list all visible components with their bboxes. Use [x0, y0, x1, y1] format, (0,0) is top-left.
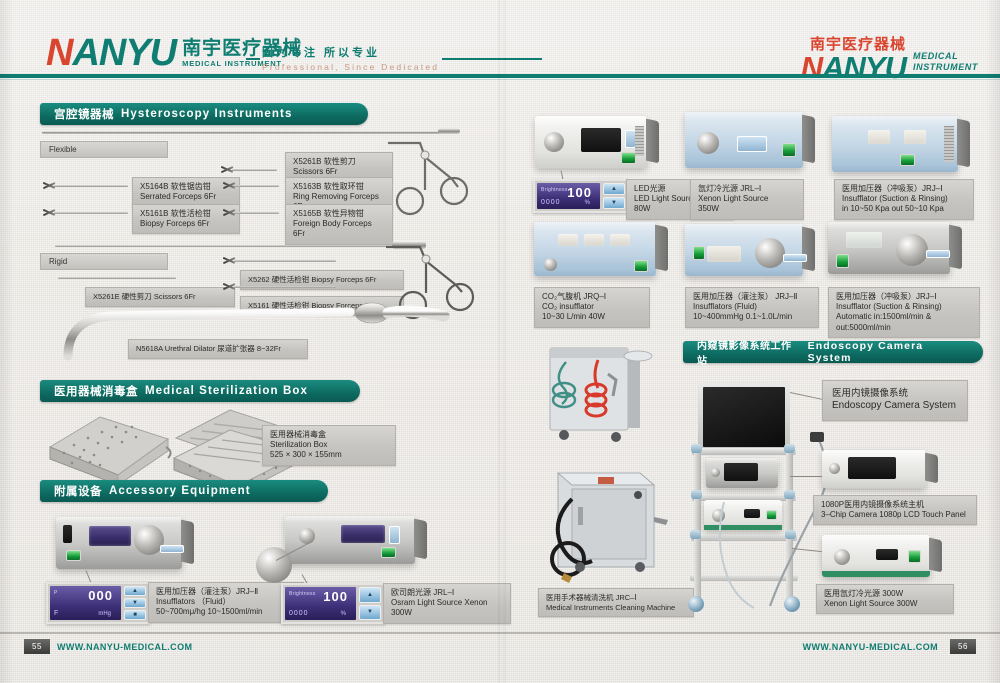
caption-sterilization-box: 医用器械消毒盒 Sterilization Box 525 × 300 × 15… — [262, 425, 396, 466]
device-left-panel — [63, 525, 72, 543]
device-side-panel-10 — [929, 538, 942, 573]
device-xenon-light-source — [685, 112, 803, 168]
closeup-osram-display: Brightness 100 0000 % ▲▼ — [281, 583, 385, 624]
trolley-caster-right — [784, 596, 800, 612]
device-led-light-source — [535, 116, 647, 168]
closeup-keypad-2[interactable]: ▲▼ — [359, 587, 381, 620]
device-side-panel-8 — [949, 225, 962, 270]
device-power-button-5 — [900, 154, 915, 166]
closeup-lcd-2: Brightness 100 0000 % — [285, 587, 356, 620]
device-power-button-6 — [634, 260, 648, 272]
header-rule-thin — [0, 79, 1000, 80]
device-side-panel-2 — [414, 519, 427, 560]
device-display-2 — [341, 525, 385, 543]
caption-insufflator-fluid-2: 医用加压器（灌注泵） JRJ–Ⅱ Insufflators (Fluid) 10… — [685, 287, 819, 328]
rigid-biopsy-shaft-2 — [234, 286, 336, 288]
slogan-english: Professional, Since Dedicated — [262, 62, 492, 72]
trolley-joint-6 — [785, 530, 796, 539]
trolley-post-right — [786, 448, 793, 600]
device-pump-rotor-2 — [755, 238, 785, 268]
trolley-light-unit — [704, 500, 782, 530]
trolley-caster-left — [688, 596, 704, 612]
device-power-button-2 — [381, 547, 396, 558]
trolley-light-port — [712, 509, 725, 522]
caption-xenon-300w: 医用氙灯冷光源 300W Xenon Light Source 300W — [816, 584, 954, 614]
caption-1080p-camera: 1080P医用内镜摄像系统主机 3–Chip Camera 1080p LCD … — [813, 495, 977, 525]
device-side-panel-4 — [802, 115, 815, 164]
caption-insufflator-suction-2: 医用加压器（冲吸泵）JRJ–Ⅰ Insufflator (Suction & R… — [828, 287, 980, 338]
device-display-8 — [846, 232, 882, 248]
ring-forceps-shaft — [234, 185, 279, 187]
device-light-port-4 — [834, 549, 850, 565]
device-side-panel-9 — [925, 453, 938, 484]
biopsy-forceps-shaft — [54, 212, 128, 214]
device-display-3 — [581, 128, 621, 152]
device-side-panel-5 — [957, 119, 970, 168]
footer-url-right: WWW.NANYU-MEDICAL.COM — [803, 642, 938, 652]
flexible-scissors-shaft — [232, 169, 277, 171]
trolley-joint-1 — [691, 444, 702, 453]
trolley-shelf-4 — [690, 574, 798, 581]
device-power-button-10 — [908, 550, 921, 563]
sterilization-box-closed — [44, 405, 174, 490]
device-1080p-camera — [822, 450, 926, 488]
leader-line-1080p — [790, 476, 822, 477]
device-insufflator-suction-2 — [828, 222, 950, 274]
device-body-5 — [832, 116, 958, 172]
section-title-cn: 宫腔镜器械 — [54, 106, 114, 122]
device-vents-5 — [944, 126, 954, 162]
trolley-post-left — [694, 448, 701, 600]
trolley-shelf-3 — [691, 534, 797, 541]
page-edge-right — [986, 0, 1000, 683]
device-tube-2 — [783, 254, 807, 262]
footer-rule — [0, 632, 1000, 634]
caption-co2-insufflator: CO₂气腹机 JRQ–Ⅰ CO₂ insufflator 10~30 L/min… — [534, 287, 650, 328]
page-edge-left — [0, 0, 14, 683]
device-camera-knob — [829, 463, 840, 474]
device-green-stripe — [822, 571, 930, 577]
trolley-light-display — [744, 509, 760, 518]
device-touch-panel — [848, 457, 896, 479]
cleaning-machine-lower — [528, 455, 678, 585]
device-co2-insufflator — [534, 222, 656, 276]
section-title-cn-3: 附属设备 — [54, 483, 102, 499]
closeup-keypad[interactable]: ▲▼■ — [124, 586, 146, 620]
section-title-en-2: Medical Sterilization Box — [145, 385, 308, 397]
serrated-forceps-shaft — [54, 185, 128, 187]
device-osram-light-source — [285, 516, 415, 564]
section-title-cn-2: 医用器械消毒盒 — [54, 383, 138, 399]
device-side-panel-6 — [655, 225, 668, 272]
rigid-biopsy-shaft-1 — [234, 260, 336, 262]
device-display-5b — [904, 130, 926, 144]
device-insufflator-fluid — [56, 517, 182, 569]
device-display-6a — [558, 234, 578, 246]
device-side-panel-7 — [802, 227, 815, 272]
device-side-panel-3 — [646, 119, 659, 164]
device-light-port-2 — [544, 132, 564, 152]
device-control-pad-4 — [737, 136, 767, 152]
leader-line-xenon-300w — [792, 548, 822, 552]
caption-osram-light-source: 欧司朗光源 JRL–Ⅰ Osram Light Source Xenon 300… — [383, 583, 511, 624]
cleaning-machine-upper — [530, 338, 660, 453]
caption-insufflator-suction-1: 医用加压器（冲吸泵）JRJ–Ⅰ Insufflator (Suction & R… — [834, 179, 974, 220]
hysteroscope-handle — [438, 128, 460, 134]
light-guide-coupler — [256, 547, 292, 583]
slogan: 因为专注 所以专业 Professional, Since Dedicated — [262, 44, 492, 72]
foreign-body-forceps-shaft — [234, 212, 279, 214]
logo-wordmark: NANYU — [46, 36, 176, 70]
section-header-camera: 内窥镜影像系统工作站 Endoscopy Camera System — [683, 341, 983, 363]
device-power-button-8 — [836, 254, 849, 268]
caption-cleaning-machine: 医用手术器械清洗机 JRC–Ⅰ Medical Instruments Clea… — [538, 588, 694, 617]
device-gas-port — [544, 258, 557, 271]
device-light-port-3 — [697, 132, 719, 154]
device-power-button — [66, 550, 81, 561]
flexible-hysteroscope-shaft — [42, 131, 442, 134]
trolley-camera-unit — [706, 458, 778, 488]
device-display-5a — [868, 130, 890, 144]
section-title-en-4: Endoscopy Camera System — [808, 340, 969, 364]
device-xenon-300w — [822, 535, 930, 577]
trolley-camera-screen — [724, 463, 758, 481]
device-insufflator-fluid-2 — [685, 224, 803, 276]
group-label-flexible: Flexible — [40, 141, 168, 158]
section-title-cn-4: 内窥镜影像系统工作站 — [697, 337, 801, 367]
device-pump-rotor-3 — [896, 234, 928, 266]
device-display-7 — [707, 246, 741, 262]
closeup-lcd: P 000 F mHg — [50, 586, 121, 620]
closeup-lcd-3: Brightness 100 0000 % — [537, 183, 600, 209]
footer-url-left: WWW.NANYU-MEDICAL.COM — [57, 642, 192, 652]
closeup-led-display: Brightness 100 0000 % ▲▼ — [533, 179, 629, 213]
trolley-monitor — [698, 382, 790, 452]
closeup-keypad-3[interactable]: ▲▼ — [603, 183, 625, 209]
rigid-scissors-shaft — [58, 277, 176, 279]
section-header-sterilization: 医用器械消毒盒 Medical Sterilization Box — [40, 380, 360, 402]
device-display-6c — [610, 234, 630, 246]
caption-x5165b: X5165B 软性异物钳 Foreign Body Forceps 6Fr — [285, 204, 393, 245]
device-power-button-3 — [621, 152, 636, 164]
trolley-joint-2 — [784, 444, 795, 453]
section-header-hysteroscopy: 宫腔镜器械 Hysteroscopy Instruments — [40, 103, 368, 125]
caption-n5618a: N5618A Urethral Dilator 尿道扩张器 8~32Fr — [128, 339, 308, 359]
leader-line-camera-system — [790, 392, 823, 400]
logo-right-medical: MEDICAL — [913, 51, 978, 62]
trolley-light-power — [766, 510, 777, 520]
trolley-joint-4 — [784, 490, 795, 499]
slogan-rule-right — [442, 58, 542, 60]
caption-endoscopy-camera-system: 医用内镜摄像系统 Endoscopy Camera System — [822, 380, 968, 421]
trolley-camera-knob — [711, 468, 720, 477]
device-display-6b — [584, 234, 604, 246]
monitor-screen — [703, 387, 785, 447]
page-number-right: 56 — [950, 639, 976, 654]
catalog-page: NANYU 南宇医疗器械 MEDICAL INSTRUMENT 因为专注 所以专… — [0, 0, 1000, 683]
section-header-accessory: 附属设备 Accessory Equipment — [40, 480, 328, 502]
logo-right-instrument: INSTRUMENT — [913, 62, 978, 73]
device-insufflator-suction-1 — [832, 116, 958, 172]
trolley-joint-3 — [691, 490, 702, 499]
device-power-button-4 — [782, 143, 796, 157]
trolley-light-stripe — [704, 525, 782, 530]
device-display — [89, 526, 131, 546]
section-title-en: Hysteroscopy Instruments — [121, 108, 292, 120]
device-keypad-2 — [389, 526, 400, 544]
header-rule — [0, 74, 1000, 78]
closeup-insufflator-display: P 000 F mHg ▲▼■ — [46, 582, 150, 624]
caption-xenon-light-source: 氙灯冷光源 JRL–Ⅰ Xenon Light Source 350W — [690, 179, 804, 220]
page-number-left: 55 — [24, 639, 50, 654]
section-title-en-3: Accessory Equipment — [109, 485, 251, 497]
trolley-joint-5 — [690, 530, 701, 539]
device-power-button-7 — [693, 246, 705, 260]
page-gutter — [498, 0, 506, 683]
rigid-hysteroscope-shaft — [55, 245, 395, 247]
device-tube-3 — [926, 250, 950, 258]
slogan-rule-left — [246, 58, 260, 60]
device-side-panel — [181, 520, 194, 565]
device-tube-connector — [160, 545, 184, 553]
device-vents-3 — [635, 126, 644, 156]
group-label-rigid: Rigid — [40, 253, 168, 270]
device-display-10 — [876, 549, 898, 560]
trolley-shelf-top — [692, 448, 796, 455]
